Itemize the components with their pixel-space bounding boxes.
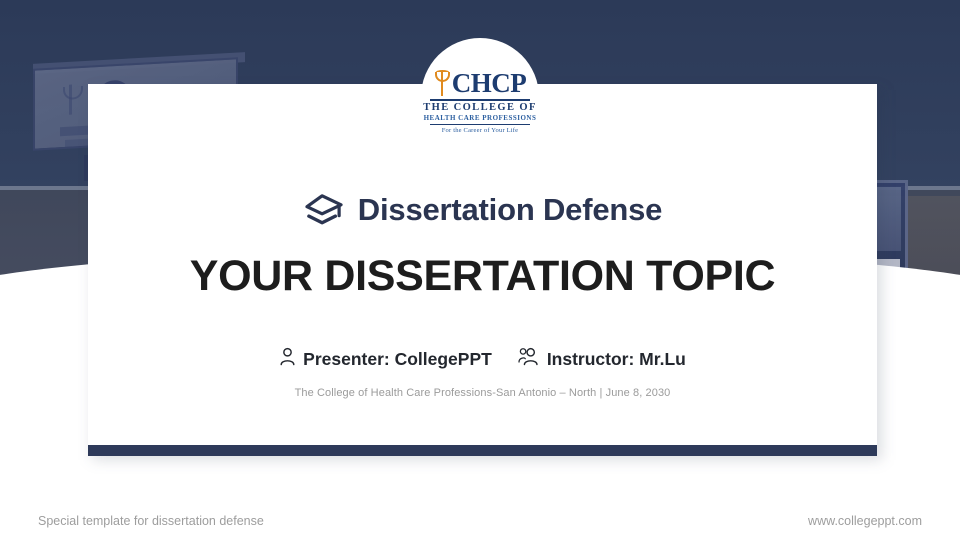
logo-line-2: HEALTH CARE PROFESSIONS <box>424 114 537 122</box>
logo-rule-top <box>430 99 530 101</box>
footer-right-text: www.collegeppt.com <box>808 514 922 528</box>
footer-left-text: Special template for dissertation defens… <box>38 514 264 528</box>
card-footer-bar <box>88 445 877 456</box>
subtitle-text: Dissertation Defense <box>358 192 662 228</box>
caduceus-icon <box>434 69 451 97</box>
presenter-item: Presenter: CollegePPT <box>279 347 492 371</box>
instructor-item: Instructor: Mr.Lu <box>518 347 686 371</box>
logo-line-1: THE COLLEGE OF <box>423 102 537 113</box>
presentation-slide: Dissertation Defense YOUR DISSERTATION T… <box>0 0 960 540</box>
sign-caduceus-icon <box>63 84 79 115</box>
meta-line: The College of Health Care Professions-S… <box>88 387 877 399</box>
page-title: YOUR DISSERTATION TOPIC <box>88 252 877 301</box>
logo-tagline: For the Career of Your Life <box>442 127 519 134</box>
instructor-label: Instructor: Mr.Lu <box>547 349 686 370</box>
people-group-icon <box>518 347 540 371</box>
presenter-label: Presenter: CollegePPT <box>303 349 492 370</box>
logo-wordmark-row: CHCP <box>434 68 527 98</box>
people-row: Presenter: CollegePPT Instructor: Mr.Lu <box>88 347 877 371</box>
logo-wordmark: CHCP <box>452 70 527 97</box>
logo-rule-bottom <box>430 124 530 125</box>
person-icon <box>279 347 296 371</box>
subtitle-row: Dissertation Defense <box>88 192 877 228</box>
graduation-cap-icon <box>303 193 345 227</box>
chcp-logo: CHCP THE COLLEGE OF HEALTH CARE PROFESSI… <box>421 68 539 148</box>
